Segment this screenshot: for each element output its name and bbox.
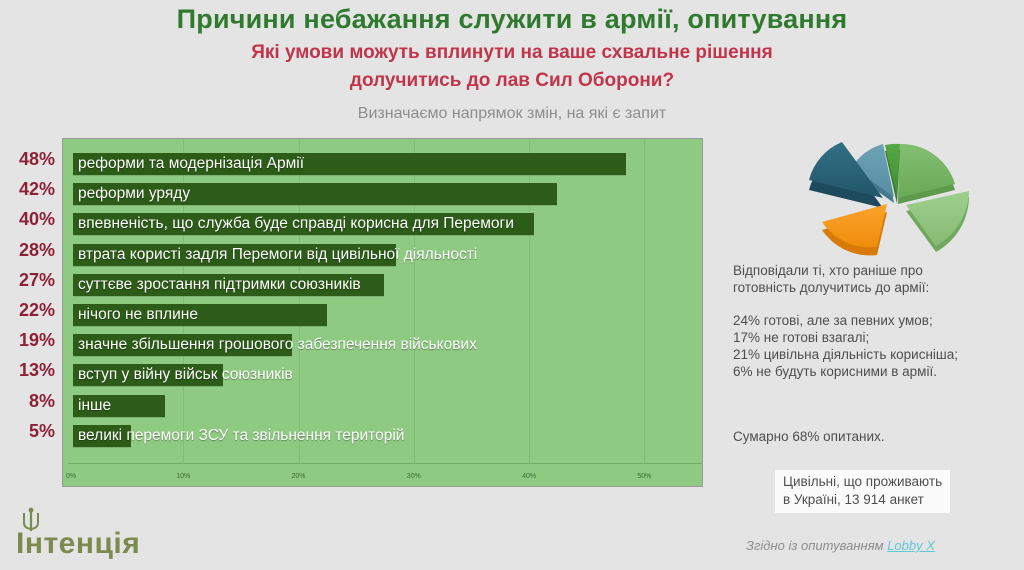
bar-row[interactable]: впевненість, що служба буде справді кори… (68, 211, 702, 237)
bar[interactable] (73, 153, 626, 175)
brand-logo-text: Інтенція (16, 527, 140, 561)
bar-value-label: 27% (0, 270, 55, 291)
page-title: Причини небажання служити в армії, опиту… (0, 4, 1024, 35)
side-note-stat-line: 17% не готові взагалі; (733, 329, 958, 346)
side-note-total: Сумарно 68% опитаних. (733, 428, 885, 445)
subtitle-line-2: долучитись до лав Сил Оборони? (0, 70, 1024, 92)
bar-value-label: 5% (0, 421, 55, 442)
sample-size-line-2: в Україні, 13 914 анкет (783, 491, 942, 509)
bar-value-label: 13% (0, 360, 55, 381)
bar-row[interactable]: реформи уряду (68, 181, 702, 207)
side-note-stat-line: 24% готові, але за певних умов; (733, 312, 958, 329)
bar-value-label: 48% (0, 149, 55, 170)
source-credit-prefix: Згідно із опитуванням (746, 538, 884, 553)
bar[interactable] (73, 425, 131, 447)
bar-value-label: 40% (0, 209, 55, 230)
subtitle-line-1: Які умови можуть вплинути на ваше схваль… (0, 42, 1024, 64)
bar[interactable] (73, 213, 534, 235)
bar[interactable] (73, 334, 292, 356)
bar[interactable] (73, 395, 165, 417)
side-note-intro-line-1: Відповідали ті, хто раніше про (733, 262, 929, 279)
x-axis-tick-label: 0% (66, 473, 76, 480)
side-note-intro: Відповідали ті, хто раніше про готовніст… (733, 262, 929, 296)
bar-value-label: 22% (0, 300, 55, 321)
bar-value-label: 42% (0, 179, 55, 200)
x-axis-tick-label: 40% (522, 473, 536, 480)
bar-chart-plot: 0%10%20%30%40%50%реформи та модернізація… (63, 139, 702, 486)
bar-row[interactable]: втрата користі задля Перемоги від цивіль… (68, 242, 702, 268)
bar-row[interactable]: нічого не вплине (68, 302, 702, 328)
bar-value-label: 19% (0, 330, 55, 351)
bar[interactable] (73, 364, 223, 386)
header-caption: Визначаємо напрямок змін, на які є запит (0, 105, 1024, 123)
bar[interactable] (73, 304, 327, 326)
side-note-stat-line: 6% не будуть корисними в армії. (733, 363, 958, 380)
side-note-stats: 24% готові, але за певних умов;17% не го… (733, 312, 958, 380)
side-note-stat-line: 21% цивільна діяльність корисніша; (733, 346, 958, 363)
bar-row[interactable]: вступ у війну військ союзників (68, 362, 702, 388)
x-axis-tick-label: 30% (407, 473, 421, 480)
x-axis-tick-label: 50% (637, 473, 651, 480)
slide-root: Причини небажання служити в армії, опиту… (0, 0, 1024, 570)
bar[interactable] (73, 183, 557, 205)
bar[interactable] (73, 244, 396, 266)
brand-logo: Інтенція (8, 505, 228, 563)
sample-size-note: Цивільні, що проживають в Україні, 13 91… (775, 470, 950, 513)
x-axis-tick-label: 10% (176, 473, 190, 480)
bar-row[interactable]: інше (68, 393, 702, 419)
source-credit-link[interactable]: Lobby X (887, 538, 935, 553)
bar-value-label: 8% (0, 391, 55, 412)
source-credit: Згідно із опитуванням Lobby X (746, 538, 935, 553)
pie-chart (780, 130, 995, 258)
x-axis-tick-label: 20% (292, 473, 306, 480)
bar-value-label: 28% (0, 240, 55, 261)
bar[interactable] (73, 274, 384, 296)
sample-size-line-1: Цивільні, що проживають (783, 473, 942, 491)
bar-chart-panel: 0%10%20%30%40%50%реформи та модернізація… (62, 138, 703, 487)
bar-row[interactable]: великі перемоги ЗСУ та звільнення терито… (68, 423, 702, 449)
side-note-intro-line-2: готовність долучитись до армії: (733, 279, 929, 296)
bar-row[interactable]: значне збільшення грошового забезпечення… (68, 332, 702, 358)
bar-row[interactable]: суттєве зростання підтримки союзників (68, 272, 702, 298)
bar-row[interactable]: реформи та модернізація Армії (68, 151, 702, 177)
pie-chart-svg (780, 130, 995, 258)
x-axis-line (68, 463, 702, 464)
